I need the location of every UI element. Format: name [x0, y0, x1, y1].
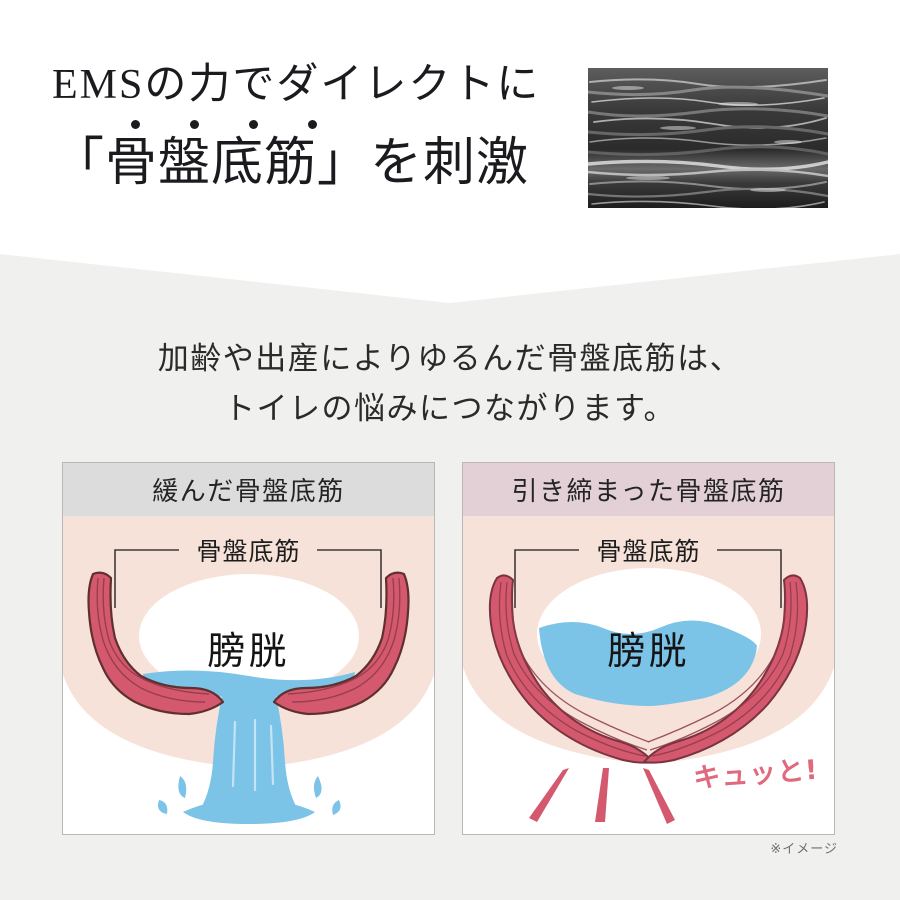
tightened-muscle-label: 骨盤底筋: [463, 532, 834, 568]
lead-line-2: トイレの悩みにつながります。: [0, 384, 900, 434]
tightened-organ-label: 膀胱: [463, 620, 834, 675]
lead-copy: 加齢や出産によりゆるんだ骨盤底筋は、 トイレの悩みにつながります。: [0, 334, 900, 434]
headline-line-2: 「骨盤底筋」を刺激: [52, 134, 572, 194]
panel-tightened-pelvic-floor: 引き締まった骨盤底筋: [462, 462, 835, 835]
panel-loose-header: 緩んだ骨盤底筋: [63, 463, 434, 516]
loose-organ-label: 膀胱: [63, 620, 434, 675]
headline: EMSの力でダイレクトに 「骨盤底筋」を刺激: [52, 62, 572, 194]
page-root: EMSの力でダイレクトに 「骨盤底筋」を刺激: [0, 0, 900, 900]
loose-muscle-label: 骨盤底筋: [63, 532, 434, 568]
ultrasound-image: [588, 68, 828, 208]
ultrasound-photo: [588, 68, 828, 208]
image-disclaimer: ※イメージ: [638, 838, 838, 857]
panel-loose-pelvic-floor: 緩んだ骨盤底筋: [62, 462, 435, 835]
headline-line-2-text: 「骨盤底筋」を刺激: [52, 135, 529, 192]
panel-tightened-header: 引き締まった骨盤底筋: [463, 463, 834, 516]
headline-line-1: EMSの力でダイレクトに: [52, 62, 572, 108]
panel-loose-diagram: 骨盤底筋 膀胱: [63, 516, 434, 835]
lead-line-1: 加齢や出産によりゆるんだ骨盤底筋は、: [0, 334, 900, 384]
squeeze-motion-marks: [529, 768, 675, 824]
comparison-panels: 緩んだ骨盤底筋: [62, 462, 838, 836]
emphasis-dots: [129, 120, 359, 132]
panel-tightened-diagram: 骨盤底筋 膀胱 キュッと!: [463, 516, 834, 835]
